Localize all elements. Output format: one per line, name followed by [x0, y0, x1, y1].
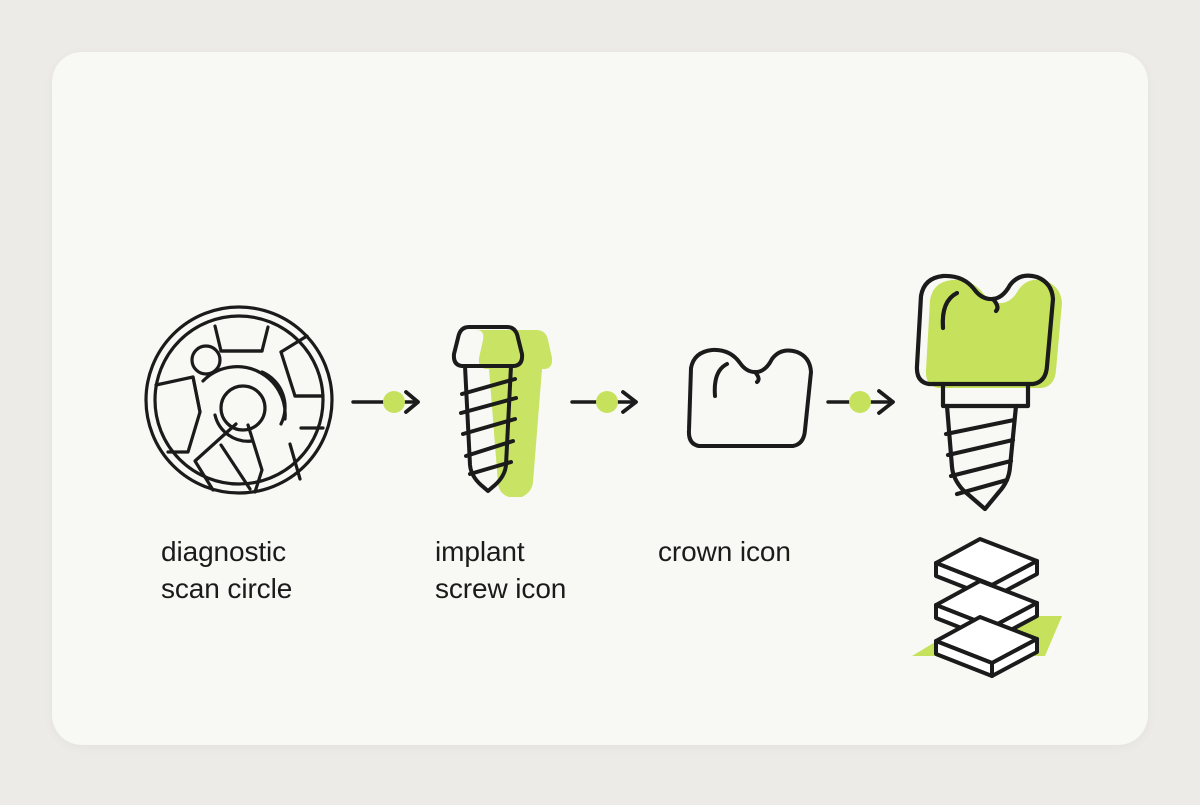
step-label-implant-screw: implant screw icon	[435, 534, 566, 608]
step-label-crown: crown icon	[658, 534, 791, 571]
screenshot-stage: diagnostic scan circle implant screw ico…	[0, 0, 1200, 805]
content-card	[52, 52, 1148, 745]
step-label-diagnostic-scan-circle: diagnostic scan circle	[161, 534, 292, 608]
